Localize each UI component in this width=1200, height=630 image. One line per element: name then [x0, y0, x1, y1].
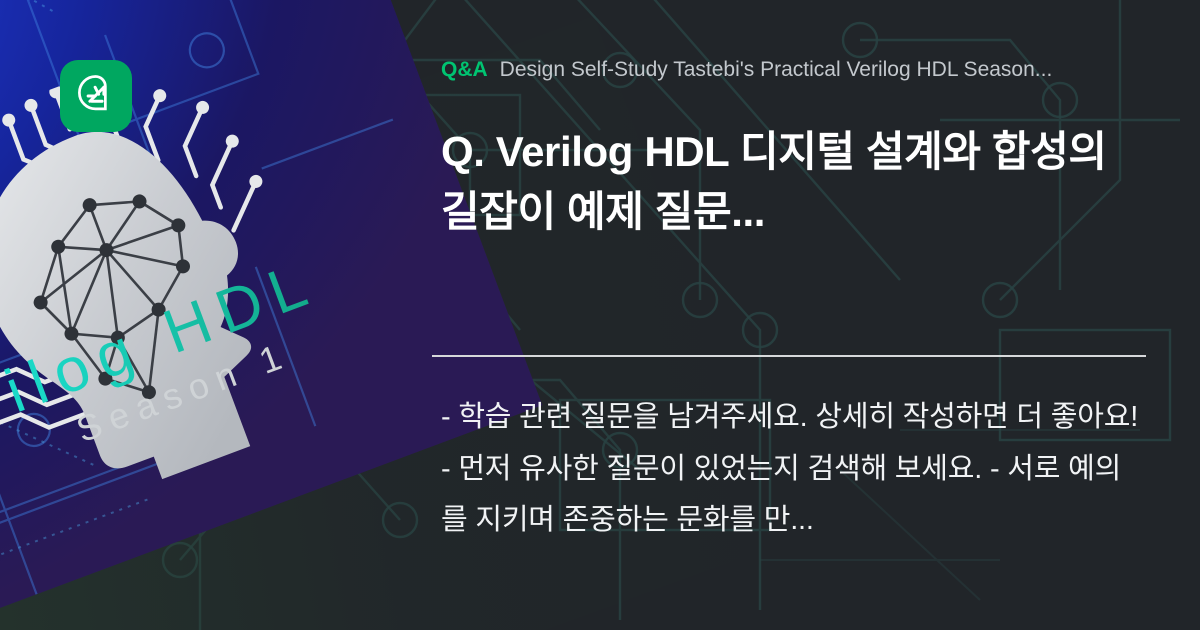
- inflearn-logo-badge[interactable]: [60, 60, 132, 132]
- course-name: Design Self-Study Tastebi's Practical Ve…: [500, 58, 1053, 82]
- question-body: - 학습 관련 질문을 남겨주세요. 상세히 작성하면 더 좋아요! - 먼저 …: [441, 392, 1146, 547]
- inflearn-leaf-icon: [75, 75, 117, 117]
- qa-badge: Q&A: [441, 58, 488, 82]
- breadcrumb: Q&A Design Self-Study Tastebi's Practica…: [441, 58, 1146, 82]
- page-title: Q. Verilog HDL 디지털 설계와 합성의 길잡이 예제 질문...: [441, 122, 1141, 241]
- og-share-card: Verilog HDL Season 1 Q&A Design Self-Stu…: [0, 0, 1200, 630]
- content-column: Q&A Design Self-Study Tastebi's Practica…: [441, 0, 1146, 630]
- divider: [432, 355, 1146, 357]
